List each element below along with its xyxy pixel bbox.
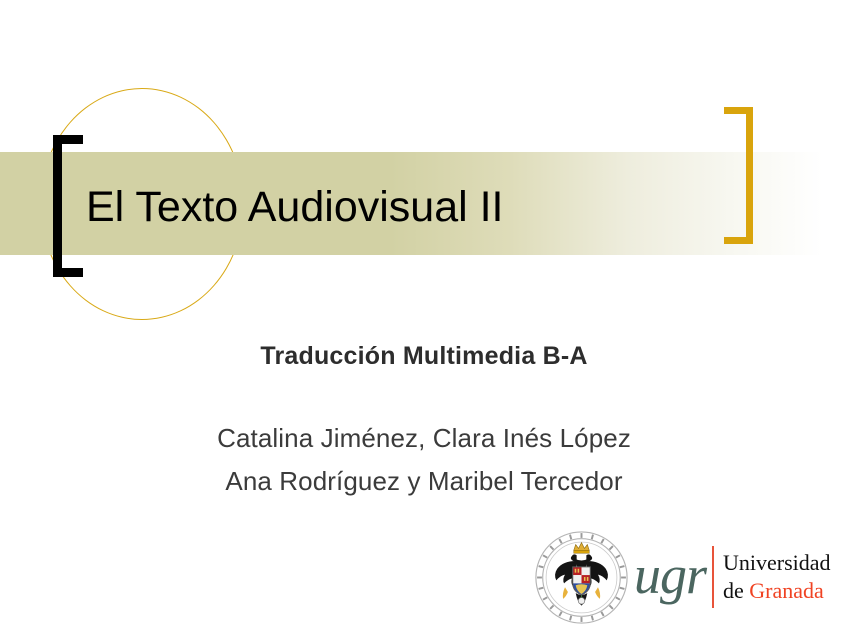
- logo-universidad-text: Universidad: [723, 549, 831, 577]
- logo-granada-text: Granada: [749, 578, 824, 603]
- logo-de-text: de: [723, 578, 744, 603]
- ugr-wordmark: ugr Universidad de Granada: [634, 546, 831, 608]
- left-bracket: [53, 135, 83, 277]
- author-list: Catalina Jiménez, Clara Inés López Ana R…: [0, 417, 848, 503]
- right-bracket: [724, 107, 753, 244]
- ugr-logo: ugr Universidad de Granada: [533, 527, 838, 627]
- logo-name-block: Universidad de Granada: [723, 549, 831, 605]
- slide-subtitle: Traducción Multimedia B-A: [0, 342, 848, 371]
- ugr-script-text: ugr: [634, 548, 706, 606]
- presentation-slide: El Texto Audiovisual II Traducción Multi…: [0, 0, 848, 636]
- author-line-2: Ana Rodríguez y Maribel Tercedor: [0, 460, 848, 503]
- slide-title: El Texto Audiovisual II: [86, 182, 504, 232]
- author-line-1: Catalina Jiménez, Clara Inés López: [0, 417, 848, 460]
- ugr-seal-icon: [533, 529, 630, 626]
- logo-divider: [712, 546, 714, 608]
